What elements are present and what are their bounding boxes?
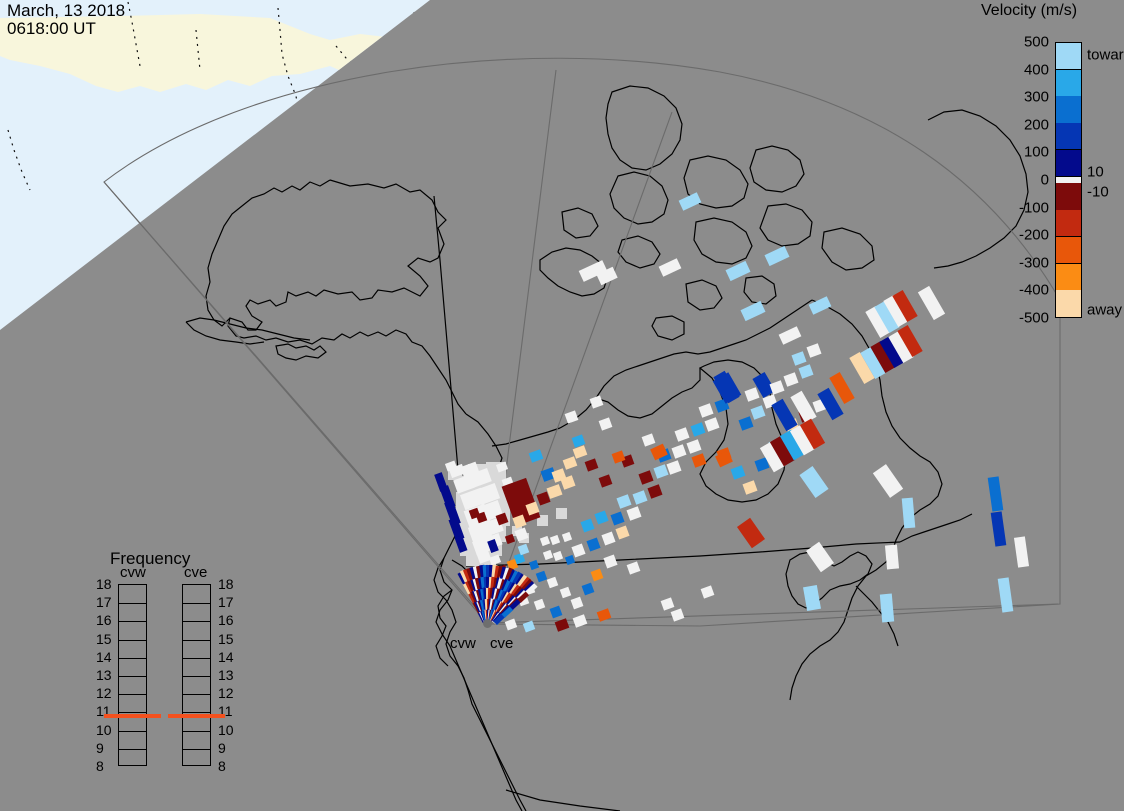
velocity-cell bbox=[1014, 536, 1029, 567]
velocity-cell bbox=[615, 525, 629, 539]
velocity-cell bbox=[806, 343, 821, 357]
colorbar-band-250 bbox=[1056, 96, 1081, 123]
velocity-cell bbox=[529, 560, 539, 570]
velocity-cell bbox=[738, 416, 753, 430]
velocity-cell bbox=[599, 474, 613, 487]
site-label-cvw: cvw bbox=[450, 635, 476, 652]
colorbar-tick--500: -500 bbox=[1019, 310, 1049, 327]
frequency-tick-cve-18: 18 bbox=[218, 576, 234, 592]
colorbar-zero-upper-label: 10 bbox=[1087, 164, 1104, 181]
velocity-cell bbox=[701, 585, 715, 598]
velocity-cell bbox=[560, 475, 575, 489]
velocity-cell bbox=[514, 553, 526, 565]
frequency-gridline bbox=[119, 749, 146, 750]
velocity-cell bbox=[616, 494, 631, 508]
frequency-marker-cve bbox=[168, 714, 225, 718]
colorbar-band-50 bbox=[1056, 150, 1081, 177]
colorbar-tick-labels: 5004003002001000-100-200-300-400-500 bbox=[985, 42, 1049, 318]
velocity-cell bbox=[783, 372, 798, 386]
velocity-cell bbox=[686, 439, 701, 453]
frequency-gridline bbox=[183, 640, 210, 641]
velocity-cell bbox=[880, 594, 894, 623]
frequency-column-label-cvw: cvw bbox=[120, 564, 146, 581]
radar-site-marker bbox=[483, 619, 492, 628]
colorbar-band--150 bbox=[1056, 210, 1081, 237]
velocity-cell bbox=[918, 286, 945, 320]
velocity-cell bbox=[560, 587, 572, 599]
velocity-cell bbox=[803, 585, 821, 611]
frequency-tick-cvw-8: 8 bbox=[96, 758, 104, 774]
frequency-tick-cve-16: 16 bbox=[218, 612, 234, 628]
velocity-cell bbox=[799, 466, 828, 498]
velocity-cell bbox=[565, 410, 579, 423]
frequency-gridline bbox=[119, 694, 146, 695]
frequency-tick-cve-13: 13 bbox=[218, 667, 234, 683]
velocity-cell bbox=[601, 531, 615, 545]
radar-fan-plot: March, 13 20180618:00 UT Velocity (m/s) … bbox=[0, 0, 1124, 811]
velocity-cell bbox=[671, 608, 685, 621]
velocity-cell bbox=[744, 387, 759, 401]
velocity-cell bbox=[536, 571, 548, 583]
velocity-cell bbox=[565, 555, 575, 565]
velocity-cell bbox=[725, 261, 750, 281]
velocity-cell bbox=[523, 621, 535, 633]
frequency-tick-cve-14: 14 bbox=[218, 649, 234, 665]
frequency-tick-cvw-17: 17 bbox=[96, 594, 112, 610]
frequency-gridline bbox=[183, 694, 210, 695]
ground-scatter-cell bbox=[556, 508, 567, 519]
frequency-gridline bbox=[183, 749, 210, 750]
frequency-gridline bbox=[183, 621, 210, 622]
frequency-tick-cvw-9: 9 bbox=[96, 740, 104, 756]
velocity-cell bbox=[666, 460, 681, 474]
colorbar-band-350 bbox=[1056, 70, 1081, 97]
velocity-cell bbox=[627, 561, 641, 574]
colorbar-band--50 bbox=[1056, 183, 1081, 210]
velocity-cell bbox=[580, 518, 594, 532]
velocity-cell bbox=[674, 427, 689, 441]
frequency-tick-cve-10: 10 bbox=[218, 722, 234, 738]
frequency-tick-cvw-13: 13 bbox=[96, 667, 112, 683]
velocity-cell bbox=[679, 192, 702, 210]
frequency-tick-cvw-16: 16 bbox=[96, 612, 112, 628]
velocity-cell bbox=[594, 510, 608, 524]
velocity-cell bbox=[638, 470, 653, 484]
velocity-cell bbox=[806, 542, 834, 572]
velocity-cell bbox=[998, 577, 1014, 612]
velocity-cell bbox=[597, 608, 612, 622]
colorbar-band-450 bbox=[1056, 43, 1081, 70]
colorbar-band--350 bbox=[1056, 264, 1081, 291]
colorbar-title: Velocity (m/s) bbox=[981, 2, 1077, 20]
frequency-gridline bbox=[183, 603, 210, 604]
velocity-cell bbox=[603, 554, 617, 568]
velocity-cell bbox=[518, 544, 530, 556]
frequency-gridline bbox=[119, 603, 146, 604]
velocity-cell bbox=[742, 480, 757, 494]
velocity-cell bbox=[573, 614, 588, 628]
velocity-cell bbox=[505, 619, 517, 631]
velocity-cell bbox=[704, 417, 719, 431]
velocity-cell bbox=[582, 583, 595, 596]
velocity-cell bbox=[626, 506, 641, 520]
frequency-tick-cve-15: 15 bbox=[218, 631, 234, 647]
velocity-cell bbox=[691, 453, 706, 467]
velocity-cell bbox=[550, 535, 560, 545]
velocity-cell bbox=[659, 258, 682, 276]
frequency-axis-cvw[interactable] bbox=[118, 584, 147, 766]
frequency-gridline bbox=[119, 658, 146, 659]
velocity-cell bbox=[764, 246, 789, 266]
frequency-gridline bbox=[183, 676, 210, 677]
colorbar-tick-200: 200 bbox=[1024, 116, 1049, 133]
colorbar-tick--400: -400 bbox=[1019, 282, 1049, 299]
velocity-cell bbox=[988, 476, 1004, 511]
colorbar-tick--100: -100 bbox=[1019, 199, 1049, 216]
colorbar-band--250 bbox=[1056, 237, 1081, 264]
colorbar-zero-lower-label: -10 bbox=[1087, 184, 1109, 201]
velocity-cell bbox=[571, 543, 585, 557]
frequency-legend: cvw18171615141312111098cve18171615141312… bbox=[0, 0, 400, 811]
velocity-cell bbox=[543, 550, 553, 560]
velocity-cell bbox=[809, 296, 832, 314]
colorbar-band--450 bbox=[1056, 290, 1081, 317]
velocity-cell bbox=[555, 618, 570, 632]
velocity-cell bbox=[550, 606, 563, 619]
site-label-cve: cve bbox=[490, 635, 513, 652]
frequency-tick-cvw-15: 15 bbox=[96, 631, 112, 647]
velocity-cell bbox=[647, 484, 662, 498]
velocity-cell bbox=[553, 551, 563, 561]
colorbar-toward-label: toward bbox=[1087, 47, 1124, 64]
velocity-cell bbox=[690, 422, 705, 436]
velocity-cell bbox=[779, 326, 802, 344]
velocity-cell bbox=[661, 597, 675, 610]
velocity-cell bbox=[730, 465, 745, 479]
velocity-cell bbox=[671, 444, 686, 458]
frequency-tick-cve-12: 12 bbox=[218, 685, 234, 701]
frequency-gridline bbox=[119, 640, 146, 641]
frequency-tick-cvw-18: 18 bbox=[96, 576, 112, 592]
frequency-gridline bbox=[183, 658, 210, 659]
velocity-cell bbox=[590, 395, 604, 408]
colorbar-tick-100: 100 bbox=[1024, 144, 1049, 161]
velocity-cell bbox=[791, 351, 806, 365]
velocity-cell bbox=[547, 484, 563, 499]
velocity-cell bbox=[632, 490, 647, 504]
velocity-cell bbox=[991, 511, 1007, 546]
frequency-tick-cve-9: 9 bbox=[218, 740, 226, 756]
colorbar-tick-500: 500 bbox=[1024, 34, 1049, 51]
velocity-cell bbox=[642, 433, 656, 446]
velocity-cell bbox=[571, 597, 584, 610]
colorbar-tick-400: 400 bbox=[1024, 61, 1049, 78]
frequency-tick-cve-8: 8 bbox=[218, 758, 226, 774]
velocity-cell bbox=[529, 449, 544, 463]
colorbar-away-label: away bbox=[1087, 302, 1122, 319]
frequency-column-label-cve: cve bbox=[184, 564, 207, 581]
frequency-gridline bbox=[119, 676, 146, 677]
velocity-cell bbox=[750, 405, 765, 419]
velocity-cell bbox=[798, 364, 813, 378]
velocity-cell bbox=[885, 545, 899, 570]
velocity-cell bbox=[769, 380, 784, 394]
frequency-marker-cvw bbox=[104, 714, 161, 718]
velocity-cell bbox=[547, 577, 559, 589]
velocity-cell bbox=[586, 537, 600, 551]
velocity-colorbar[interactable] bbox=[1055, 42, 1082, 318]
velocity-cell bbox=[540, 536, 550, 546]
frequency-tick-cve-17: 17 bbox=[218, 594, 234, 610]
frequency-tick-cvw-10: 10 bbox=[96, 722, 112, 738]
velocity-cell bbox=[599, 417, 613, 430]
velocity-cell bbox=[902, 498, 916, 529]
velocity-cell bbox=[496, 462, 508, 473]
frequency-tick-cvw-12: 12 bbox=[96, 685, 112, 701]
colorbar-band-150 bbox=[1056, 123, 1081, 150]
velocity-cell bbox=[489, 555, 501, 566]
frequency-axis-cve[interactable] bbox=[182, 584, 211, 766]
velocity-cell bbox=[585, 458, 599, 471]
frequency-gridline bbox=[183, 731, 210, 732]
colorbar-tick--200: -200 bbox=[1019, 227, 1049, 244]
frequency-gridline bbox=[119, 731, 146, 732]
colorbar-tick-300: 300 bbox=[1024, 89, 1049, 106]
frequency-tick-cvw-14: 14 bbox=[96, 649, 112, 665]
velocity-cell bbox=[610, 511, 624, 525]
colorbar-tick-0: 0 bbox=[1041, 172, 1049, 189]
velocity-cell bbox=[737, 518, 765, 548]
velocity-cell bbox=[873, 464, 903, 498]
velocity-cell bbox=[740, 301, 765, 321]
velocity-cell bbox=[534, 599, 546, 611]
velocity-cell bbox=[698, 403, 713, 417]
velocity-cell bbox=[562, 532, 572, 542]
frequency-gridline bbox=[119, 621, 146, 622]
velocity-cell bbox=[591, 569, 604, 582]
colorbar-tick--300: -300 bbox=[1019, 254, 1049, 271]
